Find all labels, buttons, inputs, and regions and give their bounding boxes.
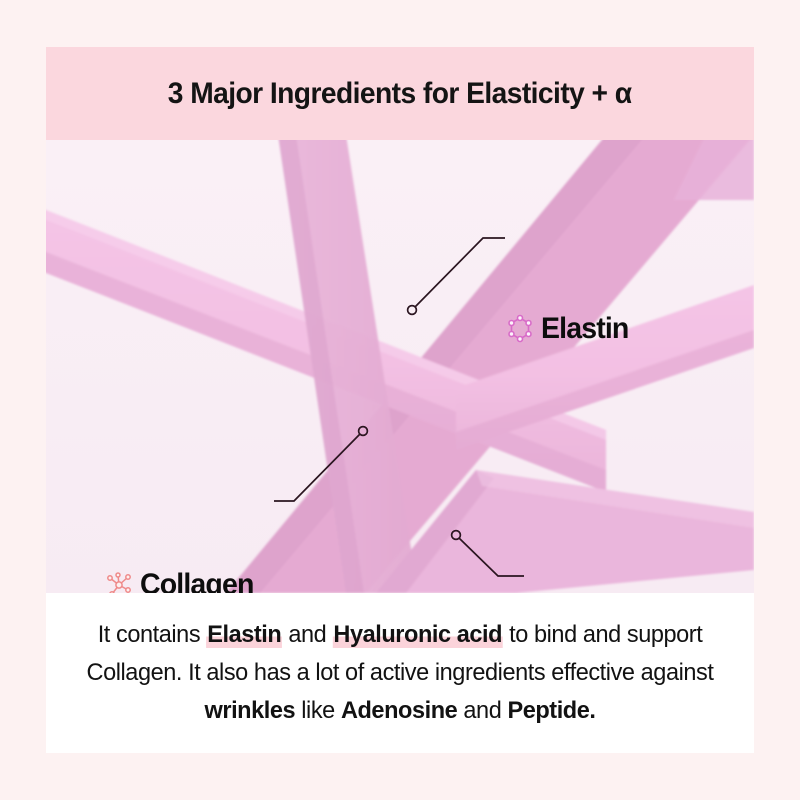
callout-label-elastin: Elastin — [541, 312, 628, 346]
desc-bold-wrinkles: wrinkles — [204, 697, 295, 724]
callout-elastin[interactable]: Elastin — [505, 312, 633, 346]
desc-highlight-elastin: Elastin — [206, 621, 282, 648]
collagen-molecule-icon — [104, 570, 134, 593]
ribbon-illustration — [46, 140, 754, 593]
description-block: It contains Elastin and Hyaluronic acid … — [46, 593, 754, 753]
ingredient-photo: Elastin — [46, 140, 754, 593]
desc-highlight-hyaluronic-acid: Hyaluronic acid — [332, 621, 503, 648]
elastin-molecule-icon — [505, 314, 535, 344]
title-banner: 3 Major Ingredients for Elasticity + α — [46, 47, 754, 140]
desc-bold-adenosine: Adenosine — [341, 697, 457, 724]
desc-mid2: like — [295, 697, 341, 724]
description-text: It contains Elastin and Hyaluronic acid … — [83, 616, 717, 730]
callout-collagen[interactable]: Collagen — [104, 568, 259, 593]
content-card: 3 Major Ingredients for Elasticity + α — [46, 47, 754, 753]
desc-bold-peptide: Peptide. — [507, 697, 595, 724]
desc-pre: It contains — [98, 621, 207, 648]
desc-mid1: and — [282, 621, 332, 648]
callout-label-collagen: Collagen — [140, 568, 254, 593]
page-title: 3 Major Ingredients for Elasticity + α — [168, 77, 632, 111]
desc-mid3: and — [457, 697, 507, 724]
infographic-card-stage: 3 Major Ingredients for Elasticity + α — [0, 0, 800, 800]
